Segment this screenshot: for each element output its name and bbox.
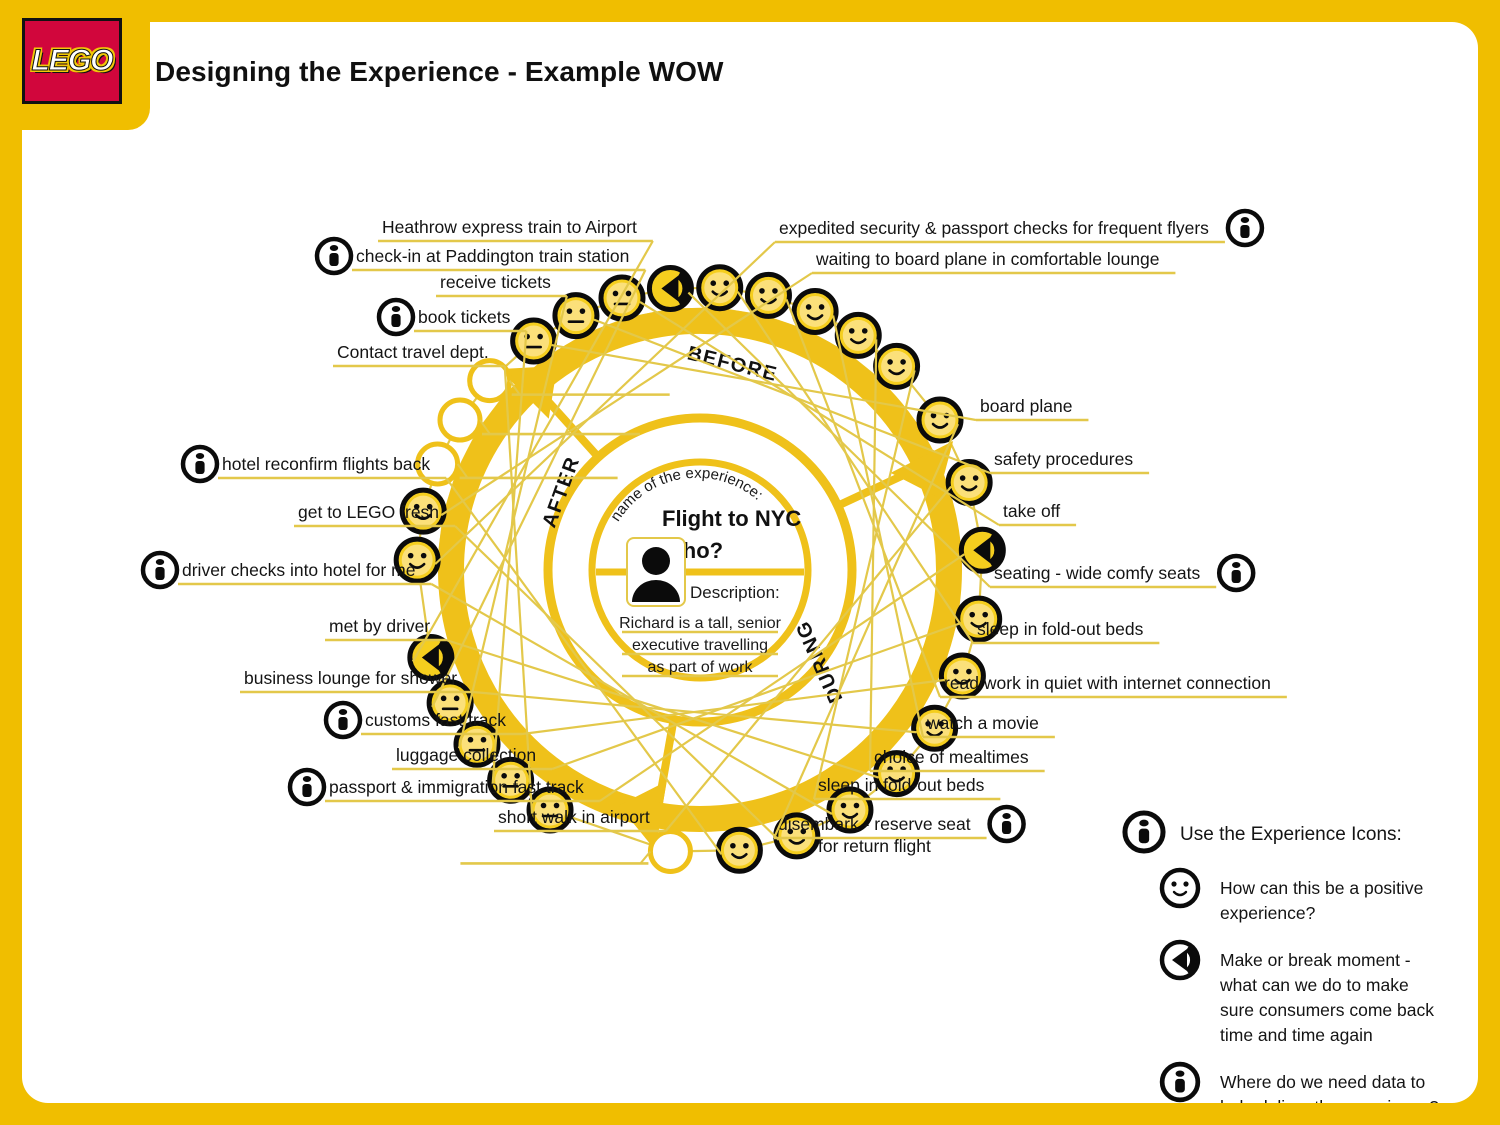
face-eye [772,288,778,294]
info-dot [330,245,338,251]
empty-circle-icon[interactable] [650,831,690,871]
step-label: take off [1003,501,1060,521]
face-eye [730,843,736,849]
info-dot [1176,1070,1185,1076]
step-label: met by driver [329,616,430,636]
face-eye [1171,881,1176,886]
legend-item-line: How can this be a positive [1220,878,1423,898]
step-node[interactable] [650,831,690,871]
info-stem [1232,570,1241,583]
face-inner [881,351,912,382]
face-eye [613,291,619,297]
step-label: driver checks into hotel for me [182,560,415,580]
info-stem [338,717,347,730]
description-line-2: as part of work [648,659,754,676]
info-stem [1002,821,1011,834]
smiley-face-icon[interactable] [1162,870,1198,906]
lego-logo-text: LEGO [31,44,112,78]
info-dot [1002,813,1010,819]
face-eye [710,280,716,286]
face-eye [900,359,906,365]
face-eye [537,334,543,340]
legend-item-line: Where do we need data to [1220,1072,1425,1092]
step-label: sleep in fold-out beds [818,775,985,795]
step-label: short walk in airport [498,807,650,827]
step-label: expedited security & passport checks for… [779,218,1209,238]
face-eye [960,475,966,481]
step-label: passport & immigration fast track [329,777,584,797]
face-eye [580,308,586,314]
step-label: luggage collection [396,745,536,765]
step-node[interactable] [718,829,760,871]
face-eye [567,308,573,314]
face-eye [854,803,860,809]
info-stem [302,784,311,797]
step-node[interactable] [837,314,879,356]
face-eye [982,612,988,618]
step-label: sleep in fold-out beds [977,619,1144,639]
description-label: Description: [690,583,780,602]
face-inner [843,320,874,351]
step-label: board plane [980,396,1072,416]
step-label: receive tickets [440,272,551,292]
face-inner [954,467,985,498]
step-label: seating - wide comfy seats [994,563,1200,583]
legend-item-line: what can we do to make [1219,975,1409,995]
legend-item-line: help deliver the experience? [1220,1097,1439,1103]
info-stem [1175,1079,1185,1093]
face-eye [408,553,414,559]
step-label: business lounge for shower [244,668,457,688]
face-inner [924,405,955,436]
step-node[interactable] [649,268,691,310]
step-label: read/work in quiet with internet connect… [944,673,1271,693]
info-stem [1240,225,1249,238]
step-label: disembark - reserve seat [778,814,971,834]
wheel-svg: BEFOREDURINGAFTER name of the experience… [22,22,1478,1103]
legend-title: Use the Experience Icons: [1180,824,1402,845]
step-node[interactable] [699,267,741,309]
legend-item-line: time and time again [1220,1025,1373,1045]
face-eye [421,553,427,559]
phase-spoke-1 [542,395,600,459]
face-eye [841,803,847,809]
info-stem [329,253,338,266]
experience-wheel-diagram: BEFOREDURINGAFTER name of the experience… [22,22,1478,1103]
step-node[interactable] [794,290,836,332]
info-stem [391,314,400,327]
page-title: Designing the Experience - Example WOW [155,56,724,88]
face-eye [454,696,460,702]
step-node[interactable] [513,320,555,362]
step-label: choice of mealtimes [874,747,1029,767]
experience-name: Flight to NYC [662,506,801,531]
step-label: customs fast track [365,710,506,730]
legend-panel: Use the Experience Icons:How can this be… [1125,813,1439,1103]
info-dot [1139,820,1148,827]
info-dot [1232,562,1240,568]
face-eye [887,359,893,365]
face-eye [626,291,632,297]
face-eye [1183,881,1188,886]
info-dot [303,776,311,782]
face-inner [704,272,735,303]
center-panel: name of the experience:Flight to NYCWho?… [592,462,808,678]
step-node[interactable] [601,277,643,319]
info-dot [392,306,400,312]
info-dot [339,709,347,715]
face-eye [441,696,447,702]
info-dot [1241,217,1249,223]
face-eye [849,328,855,334]
description-line-1: executive travelling [632,637,768,654]
step-label: Heathrow express train to Airport [382,217,637,237]
person-silhouette-icon [642,547,670,575]
step-node[interactable] [440,400,480,440]
face-eye [862,328,868,334]
lego-logo: LEGO [22,18,122,104]
face-eye [969,612,975,618]
legend-item-line: Make or break moment - [1220,950,1411,970]
legend-item-line: sure consumers come back [1220,1000,1434,1020]
face-eye [973,475,979,481]
face-eye [481,737,487,743]
legend-item-line: experience? [1220,903,1316,923]
step-label: waiting to board plane in comfortable lo… [815,249,1159,269]
step-label: Contact travel dept. [337,342,489,362]
face-eye [468,737,474,743]
step-label: hotel reconfirm flights back [222,454,430,474]
info-dot [196,453,204,459]
step-node[interactable] [919,399,961,441]
info-dot [156,559,164,565]
step-label: book tickets [418,307,511,327]
step-label: check-in at Paddington train station [356,246,629,266]
face-eye [759,288,765,294]
step-label: get to LEGO fresh [298,502,439,522]
face-eye [743,843,749,849]
description-line-0: Richard is a tall, senior [619,615,782,632]
phase-label-after: AFTER [538,453,584,530]
info-stem [1139,829,1149,844]
info-stem [195,461,204,474]
slide-root: LEGO Designing the Experience - Example … [0,0,1500,1125]
step-label-continuation: for return flight [818,836,931,856]
step-label: watch a movie [926,713,1039,733]
empty-circle-icon[interactable] [440,400,480,440]
face-eye [806,304,812,310]
info-stem [155,567,164,580]
step-label: safety procedures [994,449,1133,469]
face-eye [819,304,825,310]
face-inner [800,296,831,327]
face-inner [724,835,755,866]
